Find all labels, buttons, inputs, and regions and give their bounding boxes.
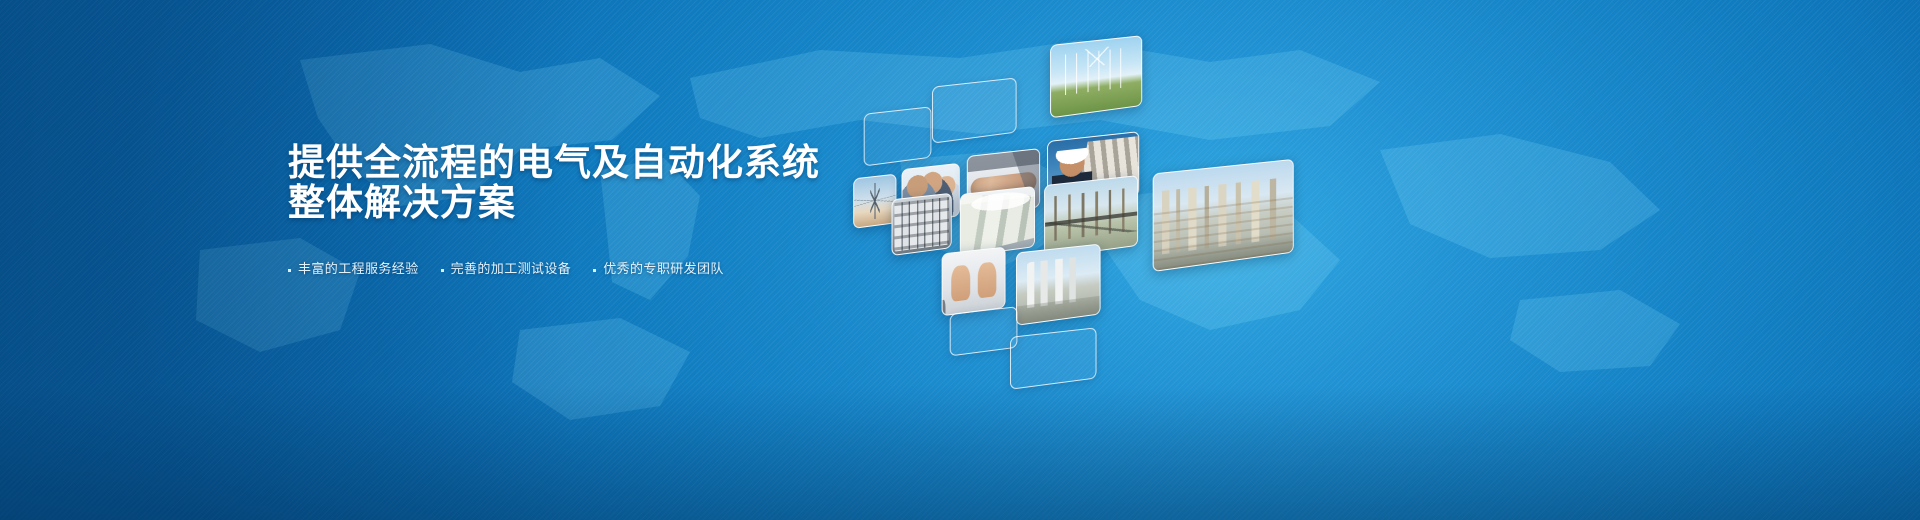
headline-line-1: 提供全流程的电气及自动化系统 [288,143,820,183]
headline-line-2: 整体解决方案 [288,183,820,223]
tile-power-transmission-tower [853,174,896,229]
bullet-dot-icon [441,269,444,272]
photo-petrochemical-refinery [1154,160,1293,271]
bullet-dot-icon [593,269,596,272]
tile-petrochemical-refinery [1153,159,1294,272]
image-tile-collage [830,0,1920,520]
photo-gas-separation-plant [1017,245,1100,325]
feature-item-1: 丰富的工程服务经验 [288,263,419,277]
feature-label-1: 丰富的工程服务经验 [298,263,419,277]
feature-list: 丰富的工程服务经验 完善的加工测试设备 优秀的专职研发团队 [288,263,820,277]
photo-wind-farm [1051,36,1141,117]
tile-empty-lower-right [1010,327,1096,390]
feature-item-2: 完善的加工测试设备 [441,263,572,277]
tile-wind-farm [1050,35,1142,118]
tile-empty-lower-left [950,306,1018,356]
photo-thumbs-up [943,248,1005,316]
bullet-dot-icon [288,269,291,272]
tile-gas-separation-plant [1016,244,1101,326]
feature-label-3: 优秀的专职研发团队 [603,263,724,277]
tile-thumbs-up [942,247,1006,317]
tile-empty-upper-left [864,106,932,166]
tile-switchgear-cabinets [892,193,952,256]
tile-empty-upper-right [932,77,1017,143]
photo-switchgear-cabinets [893,194,951,255]
banner-headline: 提供全流程的电气及自动化系统 整体解决方案 [288,143,820,223]
feature-item-3: 优秀的专职研发团队 [593,263,724,277]
banner-copy: 提供全流程的电气及自动化系统 整体解决方案 丰富的工程服务经验 完善的加工测试设… [288,143,820,277]
photo-power-transmission-tower [854,175,895,228]
photo-switchgear-hall [961,187,1034,256]
hero-banner: 提供全流程的电气及自动化系统 整体解决方案 丰富的工程服务经验 完善的加工测试设… [0,0,1920,520]
feature-label-2: 完善的加工测试设备 [451,263,572,277]
